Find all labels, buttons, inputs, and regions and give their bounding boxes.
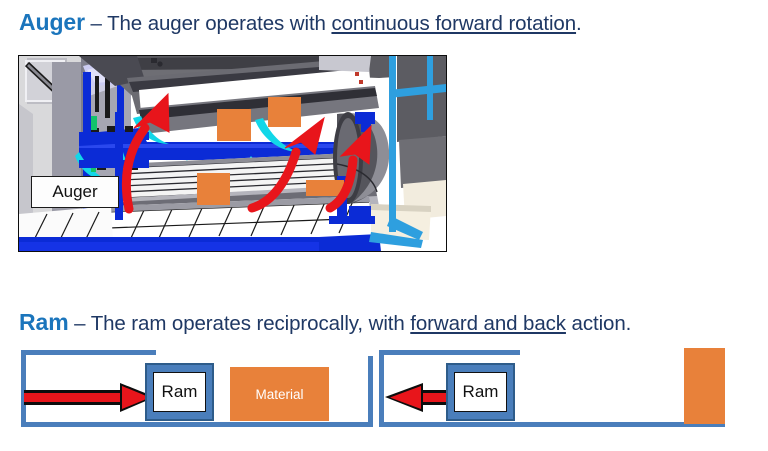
ram-forward-arrow	[24, 382, 159, 412]
auger-figure-label: Auger	[31, 176, 119, 208]
material-block-forward: Material	[230, 367, 329, 421]
ram-heading-keyword: Ram	[19, 309, 69, 335]
ram-heading-text-after: action.	[566, 312, 631, 335]
ram-heading-dash: –	[69, 312, 91, 335]
auger-heading-text-before: The auger operates with	[107, 12, 331, 35]
ram-block-return: Ram	[446, 363, 515, 421]
auger-heading-text-after: .	[576, 12, 582, 35]
ram-panel-return-frame	[379, 350, 725, 427]
ram-heading-text-before: The ram operates reciprocally, with	[91, 312, 411, 335]
ram-block-forward-label: Ram	[153, 372, 206, 412]
ram-block-forward: Ram	[145, 363, 214, 421]
auger-heading: Auger – The auger operates with continuo…	[19, 11, 582, 35]
ram-heading: Ram – The ram operates reciprocally, wit…	[19, 311, 631, 335]
ram-return-arrow	[383, 382, 455, 412]
slide-canvas: Auger – The auger operates with continuo…	[0, 0, 768, 451]
auger-heading-emphasis: continuous forward rotation	[331, 12, 576, 35]
auger-drawing-svg	[19, 56, 446, 251]
auger-heading-dash: –	[85, 12, 107, 35]
ram-panel-forward-frame	[21, 350, 373, 427]
material-block-return	[684, 348, 725, 424]
ram-panel-forward-top-notch	[156, 348, 374, 356]
material-block-forward-label: Material	[255, 387, 303, 402]
ram-heading-emphasis: forward and back	[410, 312, 566, 335]
ram-block-return-label: Ram	[454, 372, 507, 412]
ram-block-return-label-text: Ram	[463, 382, 499, 402]
auger-technical-figure	[18, 55, 447, 252]
ram-panel-return-top-notch	[520, 348, 727, 356]
auger-figure-label-text: Auger	[52, 182, 97, 202]
ram-block-forward-label-text: Ram	[162, 382, 198, 402]
auger-heading-keyword: Auger	[19, 9, 85, 35]
